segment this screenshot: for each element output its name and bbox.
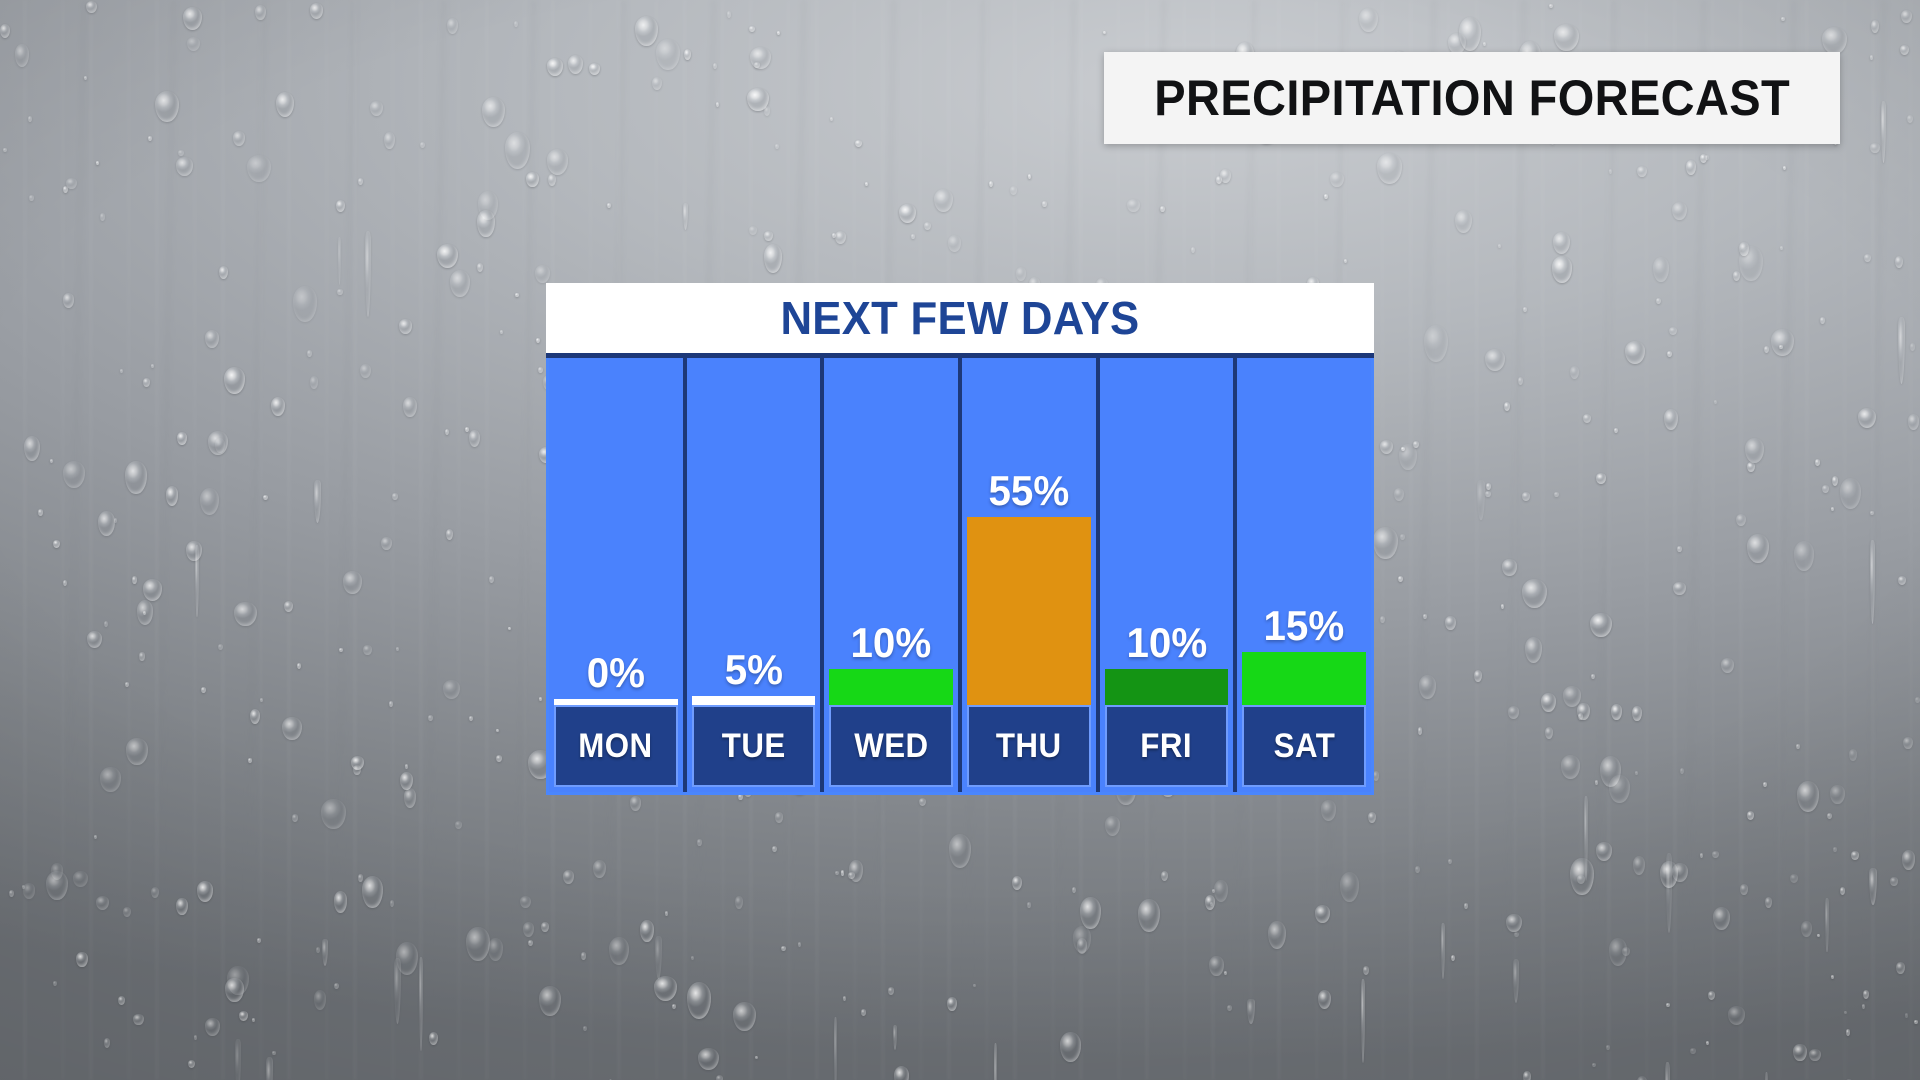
day-column-thu[interactable]: 55%THU — [962, 358, 1100, 792]
precipitation-forecast-banner: PRECIPITATION FORECAST — [1104, 52, 1840, 144]
forecast-bar-chart: 0%MON5%TUE10%WED55%THU10%FRI15%SAT — [546, 358, 1374, 795]
day-label-box-wed[interactable]: WED — [829, 705, 953, 787]
precip-value-label-tue: 5% — [689, 646, 817, 694]
day-label: THU — [996, 727, 1062, 766]
day-column-tue[interactable]: 5%TUE — [687, 358, 825, 792]
banner-title: PRECIPITATION FORECAST — [1154, 69, 1790, 127]
bar-stack: 10%FRI — [1100, 358, 1234, 792]
bar-stack: 5%TUE — [687, 358, 821, 792]
bar-stack: 15%SAT — [1237, 358, 1371, 792]
day-label: MON — [579, 727, 653, 766]
day-label-box-fri[interactable]: FRI — [1105, 705, 1229, 787]
day-column-mon[interactable]: 0%MON — [549, 358, 687, 792]
day-label-box-mon[interactable]: MON — [554, 705, 678, 787]
day-label-box-sat[interactable]: SAT — [1242, 705, 1366, 787]
next-few-days-chart-panel: NEXT FEW DAYS 0%MON5%TUE10%WED55%THU10%F… — [546, 283, 1374, 795]
day-label: SAT — [1273, 727, 1335, 766]
precip-bar-fri — [1105, 669, 1229, 705]
chart-title: NEXT FEW DAYS — [780, 291, 1139, 345]
day-column-wed[interactable]: 10%WED — [824, 358, 962, 792]
day-column-sat[interactable]: 15%SAT — [1237, 358, 1371, 792]
day-label: WED — [854, 727, 928, 766]
day-label: TUE — [722, 727, 786, 766]
precip-value-label-fri: 10% — [1102, 619, 1230, 667]
precip-bar-tue — [692, 696, 816, 705]
precip-value-label-mon: 0% — [552, 649, 680, 697]
bar-stack: 55%THU — [962, 358, 1096, 792]
chart-header: NEXT FEW DAYS — [546, 283, 1374, 358]
precip-bar-thu — [967, 517, 1091, 705]
precip-value-label-sat: 15% — [1240, 602, 1368, 650]
day-label: FRI — [1141, 727, 1193, 766]
precip-value-label-wed: 10% — [827, 619, 955, 667]
precip-bar-wed — [829, 669, 953, 705]
day-label-box-thu[interactable]: THU — [967, 705, 1091, 787]
bar-stack: 10%WED — [824, 358, 958, 792]
precip-bar-sat — [1242, 652, 1366, 705]
bar-stack: 0%MON — [549, 358, 683, 792]
day-label-box-tue[interactable]: TUE — [692, 705, 816, 787]
day-column-fri[interactable]: 10%FRI — [1100, 358, 1238, 792]
precip-value-label-thu: 55% — [965, 467, 1093, 515]
